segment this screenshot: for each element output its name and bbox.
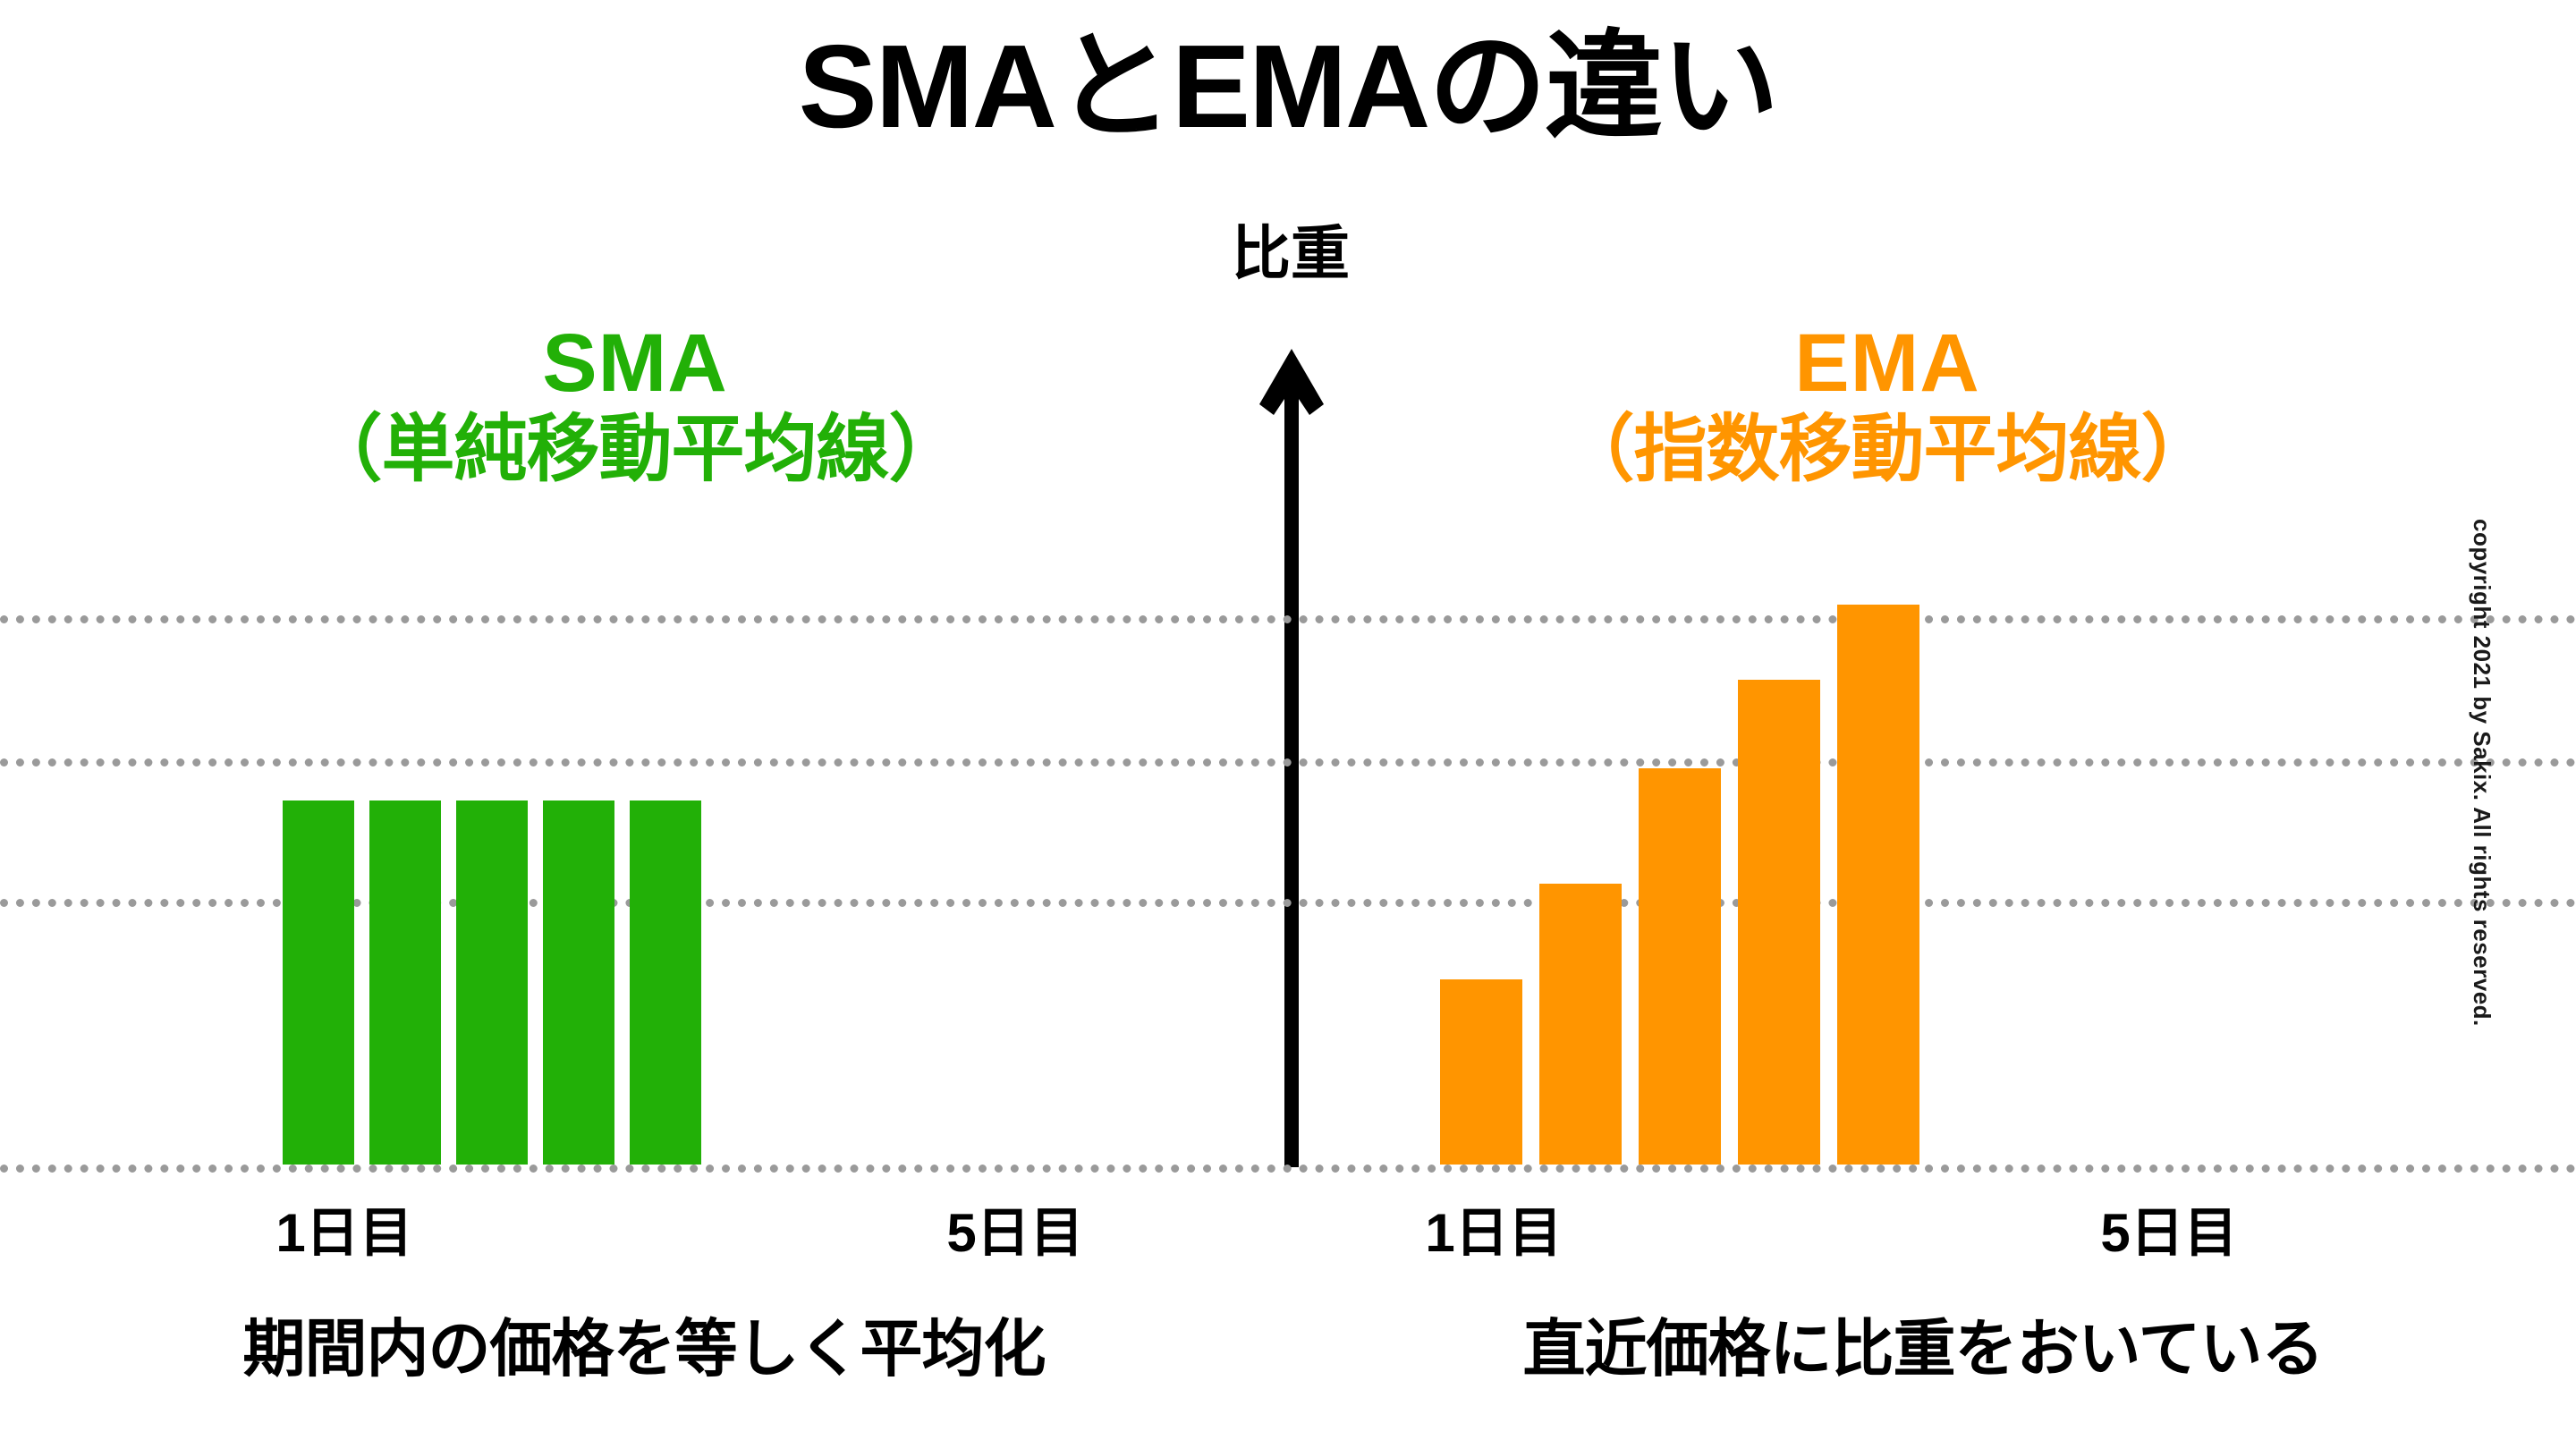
ema-bar [1639, 768, 1721, 1165]
sma-first-day-label: 1日目 [268, 1190, 420, 1267]
sma-bar [283, 800, 354, 1165]
ema-first-day-label: 1日目 [1418, 1190, 1570, 1267]
copyright-notice: copyright 2021 by Sakix. All rights rese… [2468, 519, 2495, 1027]
gridline-3 [0, 1165, 2576, 1173]
infographic-canvas: SMAとEMAの違い 比重 SMA （単純移動平均線） EMA （指数移動平均線… [0, 0, 2576, 1440]
ema-bar [1837, 605, 1919, 1165]
sma-last-day-label: 5日目 [939, 1190, 1091, 1267]
sma-bar [456, 800, 528, 1165]
sma-caption: 期間内の価格を等しく平均化 [72, 1299, 1216, 1389]
ema-last-day-label: 5日目 [2093, 1190, 2245, 1267]
ema-caption: 直近価格に比重をおいている [1351, 1299, 2495, 1389]
ema-bar [1440, 979, 1522, 1165]
ema-bar [1738, 680, 1820, 1165]
sma-bar [630, 800, 701, 1165]
bars-layer [0, 0, 2576, 1165]
ema-bar [1539, 884, 1622, 1165]
sma-bar [369, 800, 441, 1165]
sma-bar [543, 800, 614, 1165]
